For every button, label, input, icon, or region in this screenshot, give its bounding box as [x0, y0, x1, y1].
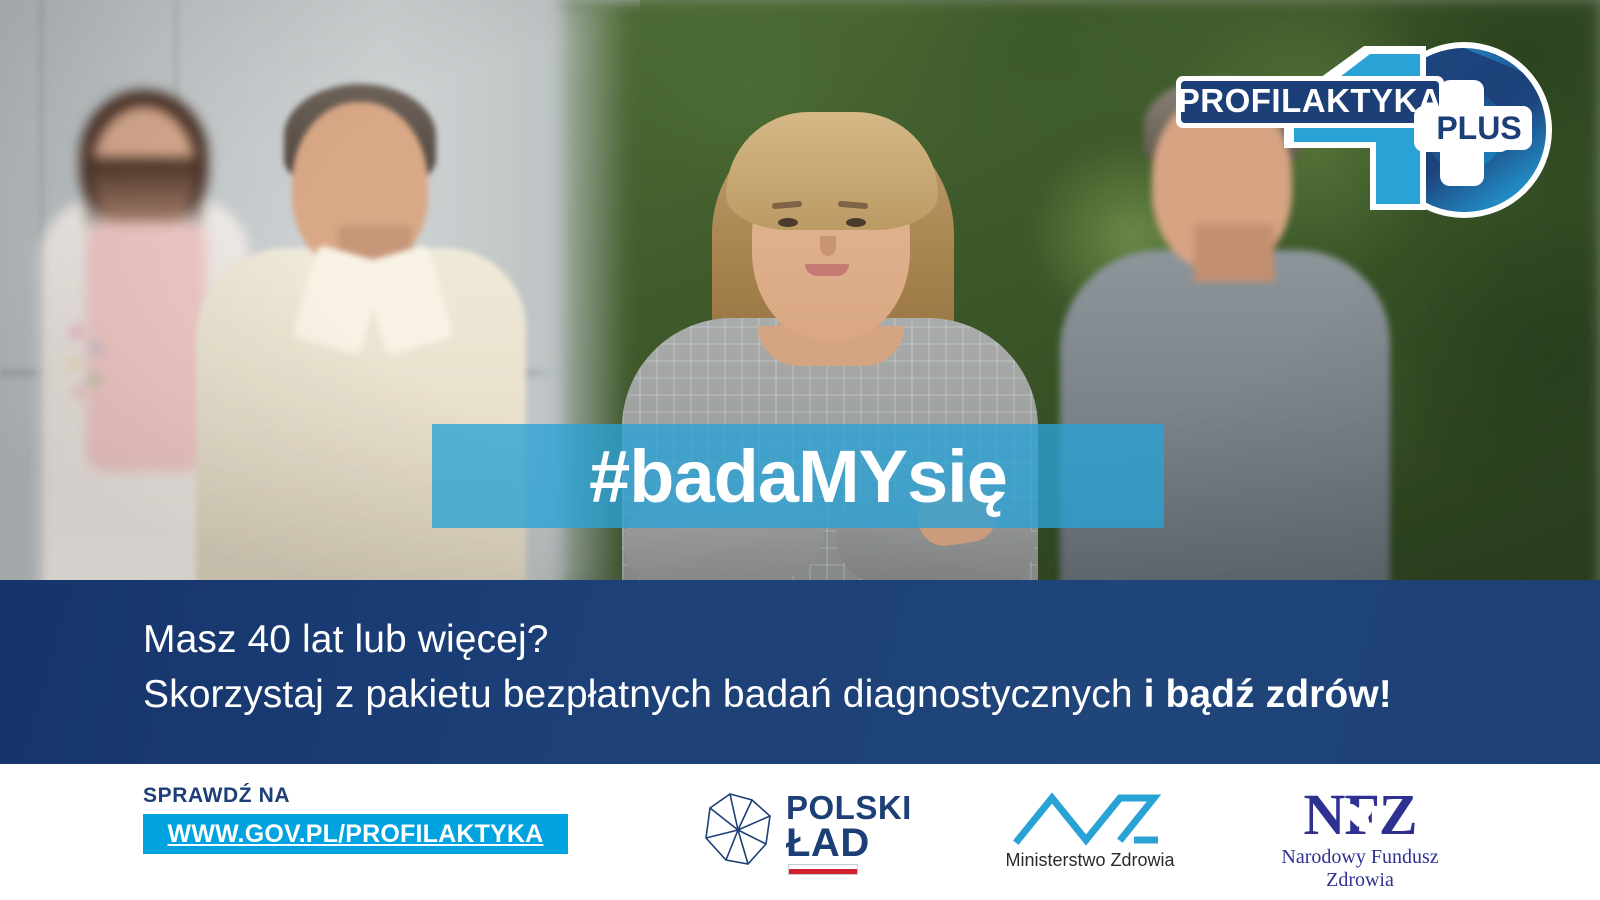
mz-zigzag-icon [1000, 788, 1180, 848]
message-band: Masz 40 lat lub więcej? Skorzystaj z pak… [0, 580, 1600, 764]
ministerstwo-zdrowia-caption: Ministerstwo Zdrowia [1000, 850, 1180, 871]
mouth [805, 264, 849, 276]
nfz-wordmark-icon: NFZ [1250, 784, 1470, 846]
eye-right [846, 218, 866, 227]
polski-lad-line-1: POLSKI [786, 792, 912, 824]
campaign-banner: PROFILAKTYKA PLUS #badaMYsię Masz 40 lat… [0, 0, 1600, 900]
poland-outline-icon [700, 786, 780, 872]
polski-lad-logo: POLSKI ŁAD [700, 786, 915, 874]
polski-lad-line-2: ŁAD [786, 824, 912, 862]
footer: SPRAWDŹ NA WWW.GOV.PL/PROFILAKTYKA POL [0, 764, 1600, 900]
hashtag-text: #badaMYsię [432, 424, 1164, 528]
neck [1194, 224, 1274, 282]
nfz-logo: NFZ Narodowy Fundusz Zdrowia [1250, 784, 1470, 880]
floral-embroidery [58, 318, 118, 408]
message-line-2-regular: Skorzystaj z pakietu bezpłatnych badań d… [143, 673, 1144, 716]
message-text: Masz 40 lat lub więcej? Skorzystaj z pak… [143, 612, 1392, 723]
nose [820, 236, 836, 256]
nfz-caption: Narodowy Fundusz Zdrowia [1250, 846, 1470, 892]
person-man-cream-polo [196, 248, 526, 592]
person-man-grey-tshirt [1060, 250, 1390, 592]
collar-right [360, 244, 454, 356]
person-woman-center [600, 240, 1060, 592]
website-url-button[interactable]: WWW.GOV.PL/PROFILAKTYKA [143, 814, 568, 854]
polish-flag-icon [788, 864, 858, 875]
message-line-2-bold: i bądź zdrów! [1144, 673, 1392, 716]
check-label: SPRAWDŹ NA [143, 784, 290, 808]
hair-front [726, 112, 938, 230]
profilaktyka-40-plus-logo: PROFILAKTYKA PLUS [1168, 38, 1568, 218]
logo-banner-text: PROFILAKTYKA [1178, 82, 1443, 119]
logo-plus-text: PLUS [1436, 110, 1521, 146]
polski-lad-wordmark: POLSKI ŁAD [786, 792, 912, 862]
message-line-2: Skorzystaj z pakietu bezpłatnych badań d… [143, 667, 1392, 722]
eye-left [778, 218, 798, 227]
hashtag-band: #badaMYsię [432, 424, 1164, 528]
ministerstwo-zdrowia-logo: Ministerstwo Zdrowia [1000, 788, 1180, 878]
logo-svg: PROFILAKTYKA PLUS [1168, 38, 1568, 218]
message-line-1: Masz 40 lat lub więcej? [143, 612, 1392, 667]
